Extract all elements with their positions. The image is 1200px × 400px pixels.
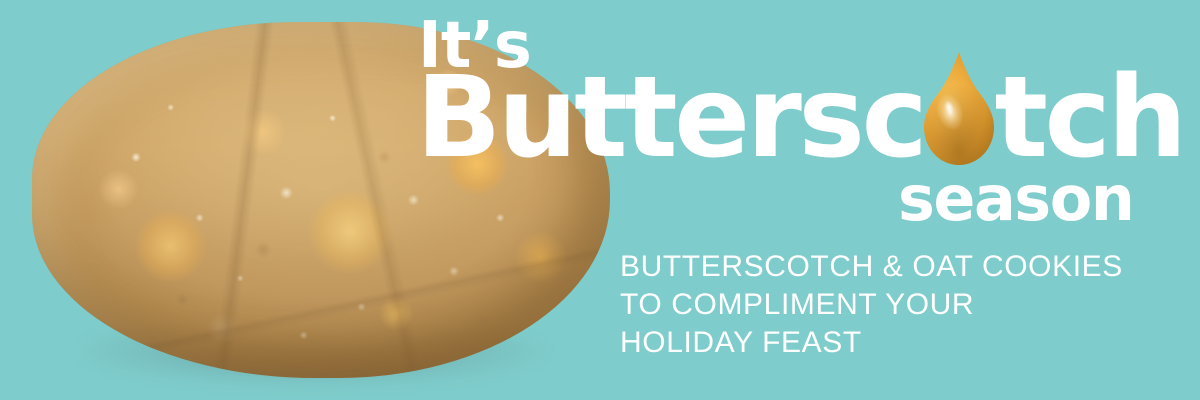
butterscotch-droplet-icon [920, 50, 998, 168]
headline-butterscotch-part-a: Butters [416, 62, 862, 174]
subcopy-line-3: HOLIDAY FEAST [620, 324, 1123, 362]
subcopy-block: BUTTERSCOTCH & OAT COOKIES TO COMPLIMENT… [620, 248, 1123, 362]
headline-butterscotch: Butters c [416, 62, 1184, 174]
headline-butterscotch-part-c: tch [994, 62, 1183, 174]
headline-season: season [898, 168, 1133, 230]
subcopy-line-2: TO COMPLIMENT YOUR [620, 286, 1123, 324]
subcopy-line-1: BUTTERSCOTCH & OAT COOKIES [620, 248, 1123, 286]
headline-butterscotch-part-b: c [862, 62, 925, 174]
butterscotch-promo-banner: It’s Butters c [0, 0, 1200, 400]
